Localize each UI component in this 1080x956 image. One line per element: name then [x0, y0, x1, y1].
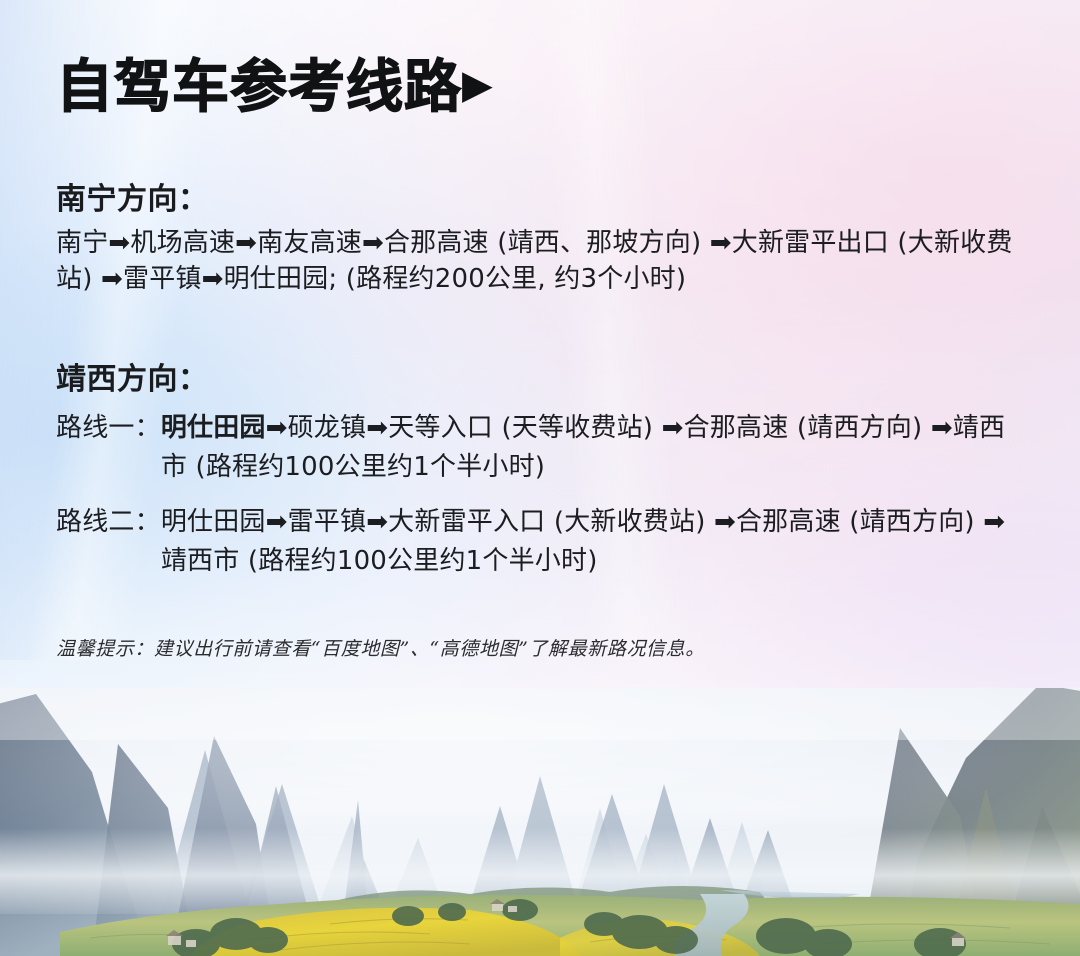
route-rest: 明仕田园➡雷平镇➡大新雷平入口 (大新收费站) ➡合那高速 (靖西方向) ➡靖西… — [161, 507, 1005, 576]
route-label: 路线一： — [56, 409, 161, 448]
content-column: 自驾车参考线路▶ 南宁方向： 南宁➡机场高速➡南友高速➡合那高速 (靖西、那坡方… — [0, 0, 1080, 664]
route-body: 明仕田园➡雷平镇➡大新雷平入口 (大新收费站) ➡合那高速 (靖西方向) ➡靖西… — [161, 503, 1024, 581]
poster-page: 自驾车参考线路▶ 南宁方向： 南宁➡机场高速➡南友高速➡合那高速 (靖西、那坡方… — [0, 0, 1080, 956]
route-body: 明仕田园➡硕龙镇➡天等入口 (天等收费站) ➡合那高速 (靖西方向) ➡靖西市 … — [161, 409, 1024, 487]
section-nanning: 南宁方向： 南宁➡机场高速➡南友高速➡合那高速 (靖西、那坡方向) ➡大新雷平出… — [56, 180, 1024, 299]
page-title-text: 自驾车参考线路 — [56, 53, 462, 120]
section-nanning-heading: 南宁方向： — [56, 180, 1024, 219]
section-jingxi-heading: 靖西方向： — [56, 360, 1024, 399]
route-item: 路线二： 明仕田园➡雷平镇➡大新雷平入口 (大新收费站) ➡合那高速 (靖西方向… — [56, 503, 1024, 581]
route-label: 路线二： — [56, 503, 161, 542]
page-title: 自驾车参考线路▶ — [56, 56, 1024, 118]
section-jingxi: 靖西方向： 路线一： 明仕田园➡硕龙镇➡天等入口 (天等收费站) ➡合那高速 (… — [56, 360, 1024, 581]
landscape-photo — [0, 688, 1080, 956]
play-triangle-icon: ▶ — [462, 61, 493, 108]
section-nanning-route: 南宁➡机场高速➡南友高速➡合那高速 (靖西、那坡方向) ➡大新雷平出口 (大新收… — [56, 225, 1024, 299]
route-item: 路线一： 明仕田园➡硕龙镇➡天等入口 (天等收费站) ➡合那高速 (靖西方向) … — [56, 409, 1024, 487]
route-highlight: 明仕田园 — [161, 413, 266, 443]
route-rest: ➡硕龙镇➡天等入口 (天等收费站) ➡合那高速 (靖西方向) ➡靖西市 (路程约… — [161, 413, 1005, 482]
tip-note: 温馨提示：建议出行前请查看“百度地图”、“高德地图”了解最新路况信息。 — [56, 635, 1024, 664]
